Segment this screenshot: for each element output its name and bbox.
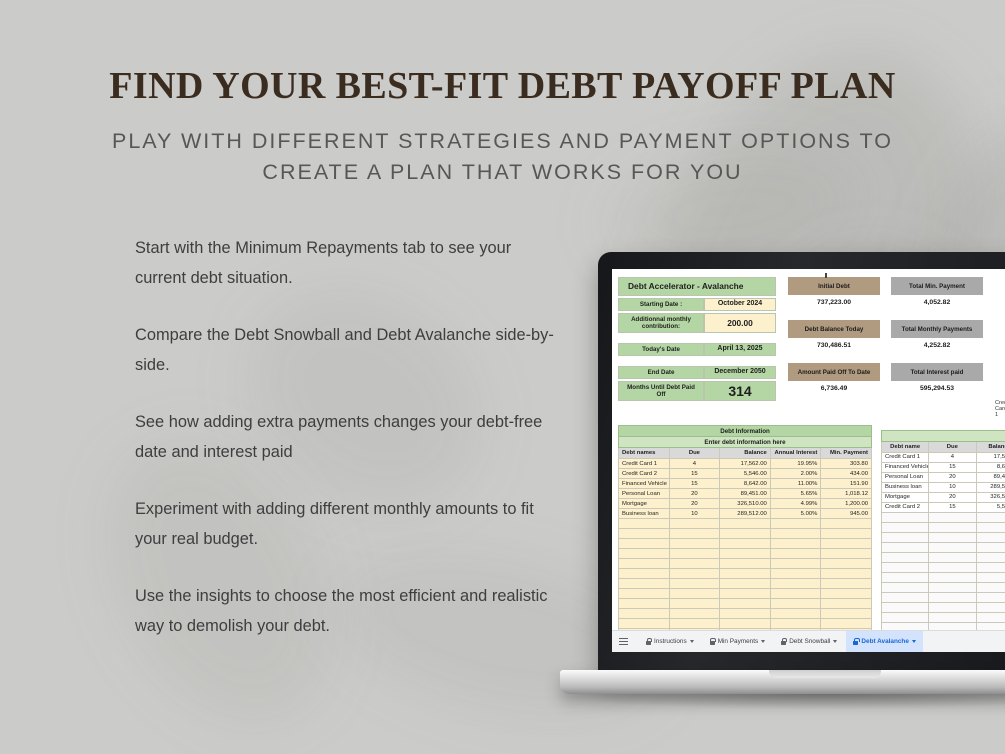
chevron-down-icon[interactable] [761, 640, 765, 643]
table-row-empty[interactable] [619, 539, 872, 549]
col-debt-name: Debt name [882, 441, 929, 452]
table-row-empty [882, 612, 1005, 622]
kpi-section: Initial Debt 737,223.00 Debt Balance Tod… [788, 277, 983, 418]
table-row-empty[interactable] [619, 559, 872, 569]
laptop-base-notch [769, 670, 881, 678]
instruction-list: Start with the Minimum Repayments tab to… [135, 234, 555, 641]
table-band-subtitle: Enter debt information here [619, 437, 872, 448]
table-row: Business loan10289,512.00 [882, 482, 1005, 492]
table-row-empty [882, 522, 1005, 532]
list-item: Experiment with adding different monthly… [135, 495, 555, 554]
table-row-empty[interactable] [619, 599, 872, 609]
extra-contribution-value[interactable]: 200.00 [704, 313, 776, 333]
kpi-column-payments: Total Min. Payment 4,052.82 Total Monthl… [891, 277, 983, 418]
end-date-label: End Date [618, 366, 704, 379]
chevron-down-icon[interactable] [912, 640, 916, 643]
table-row-empty[interactable] [619, 519, 872, 529]
debt-information-table: Debt Information Enter debt information … [618, 425, 872, 649]
table-row-empty [882, 582, 1005, 592]
table-row: Credit Card 2155,546.00 [882, 502, 1005, 512]
laptop-screen: Debt Accelerator - Avalanche Starting Da… [612, 269, 1005, 652]
table-row: Mortgage20326,510.00 [882, 492, 1005, 502]
tab-label: Debt Snowball [789, 638, 830, 645]
table-row-empty[interactable] [619, 609, 872, 619]
table-row-empty [882, 552, 1005, 562]
kpi-label: Total Interest paid [891, 363, 983, 381]
table-row[interactable]: Personal Loan2089,451.005.65%1,018.12 [619, 489, 872, 499]
laptop-lid: Debt Accelerator - Avalanche Starting Da… [598, 252, 1005, 676]
page-subheadline: PLAY WITH DIFFERENT STRATEGIES AND PAYME… [90, 126, 915, 188]
table-header-row: Debt name Due Balance A [882, 441, 1005, 452]
spreadsheet-app: Debt Accelerator - Avalanche Starting Da… [612, 269, 1005, 652]
tab-debt-snowball[interactable]: Debt Snowball [774, 631, 844, 653]
tab-instructions[interactable]: Instructions [639, 631, 701, 653]
panel-title: Debt Accelerator - Avalanche [618, 277, 776, 296]
col-debt-names: Debt names [619, 448, 670, 459]
kpi-amount-paid-off: Amount Paid Off To Date 6,736.49 [788, 363, 880, 396]
table-row-empty [882, 512, 1005, 522]
laptop-mockup: Debt Accelerator - Avalanche Starting Da… [598, 252, 1005, 676]
kpi-value: 737,223.00 [788, 295, 880, 310]
chevron-down-icon[interactable] [690, 640, 694, 643]
table-row: Financed Vehicle158,642.00 [882, 462, 1005, 472]
lock-icon [853, 638, 858, 645]
todays-date-label: Today's Date [618, 343, 704, 356]
table-row: Credit Card 1417,562.00 [882, 452, 1005, 462]
cell-cursor-marker [825, 273, 827, 278]
table-row-empty[interactable] [619, 529, 872, 539]
kpi-total-monthly-payments: Total Monthly Payments 4,252.82 [891, 320, 983, 353]
col-annual-interest: Annual Interest [770, 448, 821, 459]
kpi-label: Total Monthly Payments [891, 320, 983, 338]
list-item: Use the insights to choose the most effi… [135, 582, 555, 641]
tab-label: Instructions [654, 638, 687, 645]
kpi-label: Amount Paid Off To Date [788, 363, 880, 381]
page-headline: FIND YOUR BEST-FIT DEBT PAYOFF PLAN [0, 64, 1005, 108]
debt-tables: Debt Information Enter debt information … [618, 425, 1005, 649]
table-header-row: Debt names Due Balance Annual Interest M… [619, 448, 872, 459]
starting-date-label: Starting Date : [618, 298, 704, 311]
table-row-empty[interactable] [619, 619, 872, 629]
kpi-initial-debt: Initial Debt 737,223.00 [788, 277, 880, 310]
list-item: Start with the Minimum Repayments tab to… [135, 234, 555, 293]
table-row-empty [882, 532, 1005, 542]
list-item: See how adding extra payments changes yo… [135, 408, 555, 467]
table-row[interactable]: Credit Card 2155,546.002.00%434.00 [619, 469, 872, 479]
table-row-empty[interactable] [619, 569, 872, 579]
kpi-value: 6,736.49 [788, 381, 880, 396]
table-row-empty [882, 592, 1005, 602]
col-due: Due [929, 441, 976, 452]
tab-label: Min Payments [718, 638, 759, 645]
lock-icon [646, 638, 651, 645]
kpi-total-min-payment: Total Min. Payment 4,052.82 [891, 277, 983, 310]
todays-date-value: April 13, 2025 [704, 343, 776, 356]
kpi-label: Debt Balance Today [788, 320, 880, 338]
table-row[interactable]: Mortgage20326,510.004.99%1,200.00 [619, 499, 872, 509]
list-item: Compare the Debt Snowball and Debt Avala… [135, 321, 555, 380]
kpi-value: 4,252.82 [891, 338, 983, 353]
kpi-column-debt: Initial Debt 737,223.00 Debt Balance Tod… [788, 277, 880, 418]
lock-icon [781, 638, 786, 645]
table-row-empty [882, 602, 1005, 612]
table-row[interactable]: Financed Vehicle158,642.0011.00%151.90 [619, 479, 872, 489]
table-row-empty[interactable] [619, 589, 872, 599]
kpi-value: 730,486.51 [788, 338, 880, 353]
legend-label: Credit Card 1 [995, 400, 1005, 418]
table-band-title: Automatically [882, 430, 1005, 441]
kpi-label: Total Min. Payment [891, 277, 983, 295]
extra-contribution-label: Additionnal monthly contribution: [618, 313, 704, 333]
table-band-title: Debt Information [619, 426, 872, 437]
tab-debt-avalanche[interactable]: Debt Avalanche [846, 631, 922, 653]
tab-label: Debt Avalanche [861, 638, 908, 645]
starting-date-value[interactable]: October 2024 [704, 298, 776, 311]
kpi-debt-balance-today: Debt Balance Today 730,486.51 [788, 320, 880, 353]
kpi-value: 4,052.82 [891, 295, 983, 310]
lock-icon [710, 638, 715, 645]
table-row-empty[interactable] [619, 579, 872, 589]
sheet-tab-bar: Instructions Min Payments Debt Snowball [612, 630, 1005, 652]
table-row-empty [882, 572, 1005, 582]
laptop-base [560, 670, 1005, 694]
sorted-debt-table: Automatically Debt name Due Balance A Cr… [881, 425, 1005, 649]
tab-min-payments[interactable]: Min Payments [703, 631, 773, 653]
laptop-drop-shadow [550, 694, 1005, 710]
spreadsheet-grid: Debt Accelerator - Avalanche Starting Da… [612, 269, 1005, 630]
col-balance: Balance [720, 448, 771, 459]
table-row: Personal Loan2089,451.00 [882, 472, 1005, 482]
end-date-value: December 2050 [704, 366, 776, 379]
table-row-empty[interactable] [619, 549, 872, 559]
months-until-paid-value: 314 [704, 381, 776, 401]
kpi-value: 595,294.53 [891, 381, 983, 396]
all-sheets-menu-icon[interactable] [619, 638, 628, 645]
table-row[interactable]: Business loan10289,512.005.00%945.00 [619, 509, 872, 519]
col-min-payment: Min. Payment [821, 448, 872, 459]
col-due: Due [669, 448, 720, 459]
table-row-empty [882, 562, 1005, 572]
kpi-label: Initial Debt [788, 277, 880, 295]
kpi-total-interest-paid: Total Interest paid 595,294.53 [891, 363, 983, 396]
table-row[interactable]: Credit Card 1417,562.0019.95%303.80 [619, 459, 872, 469]
control-panel: Debt Accelerator - Avalanche Starting Da… [618, 277, 776, 418]
col-balance: Balance [976, 441, 1005, 452]
table-row-empty [882, 542, 1005, 552]
months-until-paid-label: Months Until Debt Paid Off [618, 381, 704, 401]
chevron-down-icon[interactable] [833, 640, 837, 643]
